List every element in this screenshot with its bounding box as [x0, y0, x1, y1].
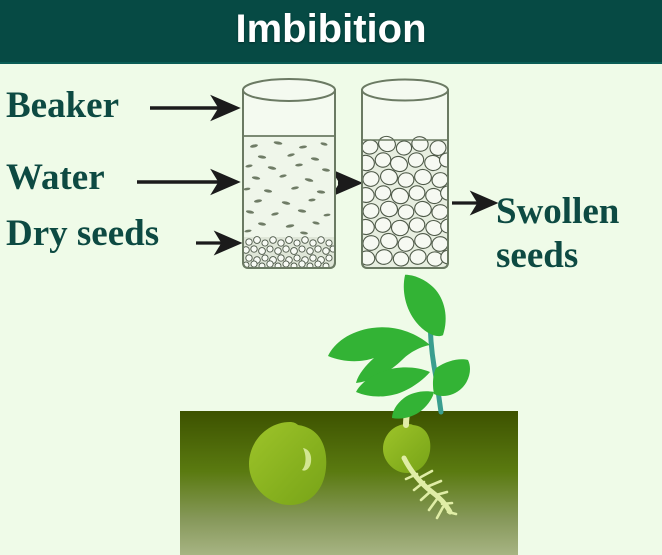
beaker-right — [356, 80, 457, 269]
beaker-left-rim — [243, 79, 335, 101]
beaker-right-rim — [362, 80, 448, 101]
diagram-canvas — [0, 0, 662, 555]
imbibition-infographic: Imbibition Beaker Water Dry seeds Swolle… — [0, 0, 662, 555]
seedling-shoot — [328, 275, 470, 419]
soil-block — [180, 411, 518, 555]
germination-illustration — [180, 275, 518, 555]
beaker-left — [243, 79, 336, 269]
plant-leaves — [328, 275, 470, 419]
